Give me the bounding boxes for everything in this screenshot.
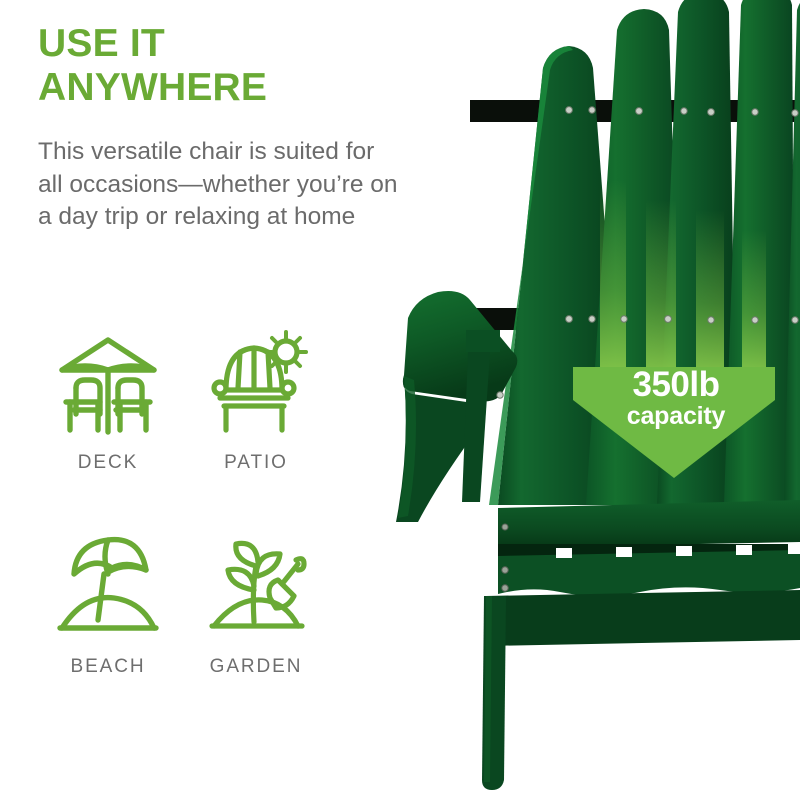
use-case-row-2: BEACH [34,534,334,678]
grid-row-spacer [34,474,334,534]
chair-seat-frame [482,500,800,790]
use-case-patio: PATIO [182,330,330,474]
beach-umbrella-sand-icon [52,534,164,644]
headline-line-1: USE IT [38,22,398,66]
adirondack-chair-sun-icon [200,330,312,440]
use-case-grid: DECK [34,330,334,678]
use-case-beach: BEACH [34,534,182,678]
plant-trowel-icon [200,534,312,644]
use-case-label: DECK [78,452,138,474]
use-case-garden: GARDEN [182,534,330,678]
headline-line-2: ANYWHERE [38,66,398,110]
use-case-label: GARDEN [210,656,303,678]
subcopy: This versatile chair is suited for all o… [38,136,468,234]
subcopy-line-1: This versatile chair is suited for [38,136,468,169]
headline: USE IT ANYWHERE [38,22,398,109]
use-case-label: BEACH [71,656,146,678]
product-feature-banner: USE IT ANYWHERE This versatile chair is … [0,0,800,800]
use-case-row-1: DECK [34,330,334,474]
subcopy-line-2: all occasions—whether you’re on [38,169,468,202]
use-case-label: PATIO [224,452,288,474]
umbrella-two-chairs-icon [52,330,164,440]
use-case-deck: DECK [34,330,182,474]
subcopy-line-3: a day trip or relaxing at home [38,201,468,234]
